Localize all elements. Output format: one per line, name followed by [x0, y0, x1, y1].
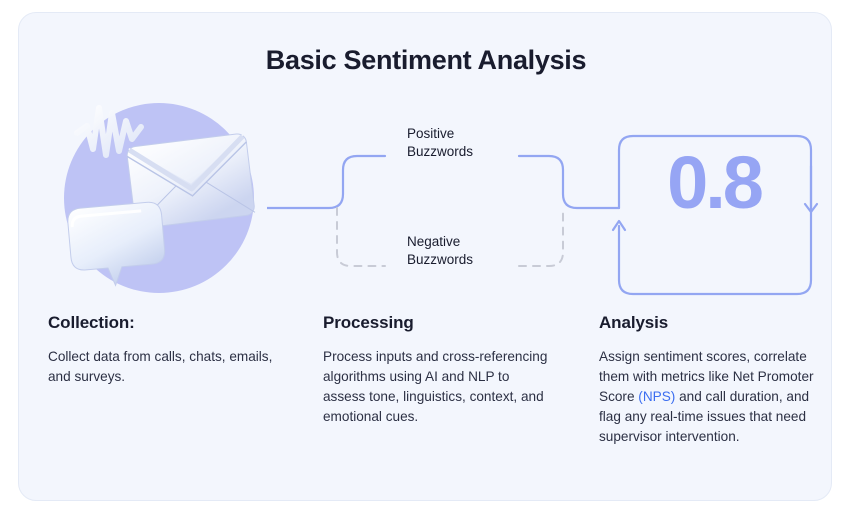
- sentiment-flow-diagram: Positive Buzzwords Negative Buzzwords 0.…: [267, 108, 832, 308]
- collection-illustration: [49, 91, 279, 301]
- infographic-root: Basic Sentiment Analysis: [0, 0, 850, 523]
- step-analysis-heading: Analysis: [599, 313, 814, 333]
- flow-line-out-negative: [519, 208, 563, 266]
- step-processing: Processing Process inputs and cross-refe…: [323, 313, 555, 427]
- infographic-card: Basic Sentiment Analysis: [18, 12, 832, 501]
- flow-label-negative: Negative Buzzwords: [407, 233, 473, 269]
- step-processing-heading: Processing: [323, 313, 555, 333]
- flow-line-in-positive: [267, 156, 385, 208]
- flow-label-positive: Positive Buzzwords: [407, 125, 473, 161]
- step-analysis-body: Assign sentiment scores, correlate them …: [599, 347, 814, 447]
- nps-link[interactable]: (NPS): [638, 389, 675, 404]
- step-processing-body: Process inputs and cross-referencing alg…: [323, 347, 555, 427]
- flow-line-out-positive: [519, 156, 619, 208]
- step-analysis: Analysis Assign sentiment scores, correl…: [599, 313, 814, 447]
- step-collection-body: Collect data from calls, chats, emails, …: [48, 347, 298, 387]
- page-title: Basic Sentiment Analysis: [19, 45, 832, 76]
- step-collection-heading: Collection:: [48, 313, 298, 333]
- step-collection: Collection: Collect data from calls, cha…: [48, 313, 298, 387]
- sentiment-score-value: 0.8: [619, 146, 809, 220]
- flow-line-in-negative: [337, 208, 385, 266]
- steps-columns: Collection: Collect data from calls, cha…: [19, 313, 832, 498]
